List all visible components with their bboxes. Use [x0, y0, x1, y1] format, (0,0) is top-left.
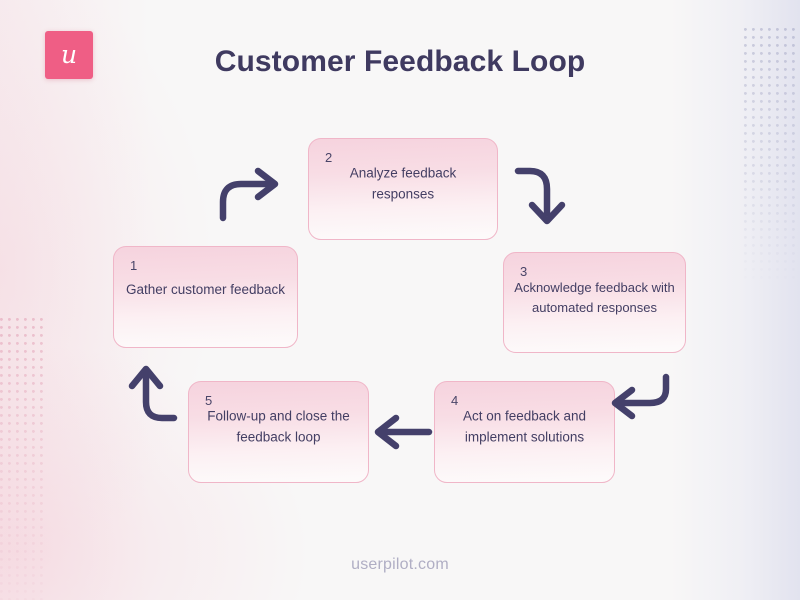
step-label-4: Act on feedback and implement solutions: [435, 406, 614, 448]
arrow-step1-to-step2-icon: [218, 166, 288, 222]
step-box-3: 3 Acknowledge feedback with automated re…: [503, 252, 686, 353]
arrow-step3-to-step4-icon: [608, 372, 672, 428]
arrow-step4-to-step5-icon: [372, 412, 434, 452]
step-label-3: Acknowledge feedback with automated resp…: [504, 278, 685, 318]
step-box-5: 5 Follow-up and close the feedback loop: [188, 381, 369, 483]
footer-url: userpilot.com: [0, 556, 800, 574]
step-label-5: Follow-up and close the feedback loop: [189, 406, 368, 448]
step-label-1: Gather customer feedback: [114, 280, 297, 301]
step-box-4: 4 Act on feedback and implement solution…: [434, 381, 615, 483]
step-label-2: Analyze feedback responses: [309, 163, 497, 205]
arrow-step5-to-step1-icon: [124, 362, 182, 424]
step-number-1: 1: [130, 258, 137, 273]
slide-canvas: u Customer Feedback Loop 1 Gather custom…: [0, 0, 800, 600]
step-box-1: 1 Gather customer feedback: [113, 246, 298, 348]
page-title: Customer Feedback Loop: [0, 45, 800, 79]
step-box-2: 2 Analyze feedback responses: [308, 138, 498, 240]
arrow-step2-to-step3-icon: [512, 165, 574, 227]
